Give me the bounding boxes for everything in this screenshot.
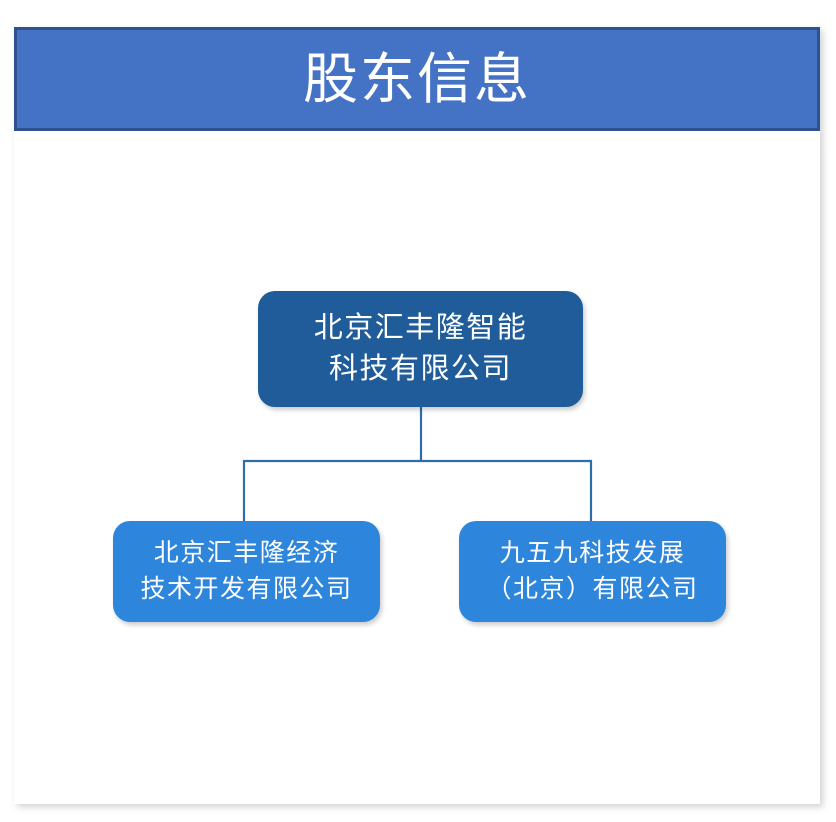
org-node-child-right-label: 九五九科技发展 （北京）有限公司 bbox=[486, 536, 698, 607]
org-node-child-left[interactable]: 北京汇丰隆经济 技术开发有限公司 bbox=[113, 521, 380, 622]
shareholder-info-card: 股东信息 北京汇丰隆智能 科技有限公司 北京汇丰隆经济 技术开发有限公司 九五九… bbox=[14, 27, 820, 804]
card-header: 股东信息 bbox=[14, 27, 820, 131]
org-node-root-label: 北京汇丰隆智能 科技有限公司 bbox=[314, 308, 528, 390]
connector-lines bbox=[14, 131, 820, 804]
org-node-child-right[interactable]: 九五九科技发展 （北京）有限公司 bbox=[459, 521, 726, 622]
page-title: 股东信息 bbox=[303, 52, 531, 107]
org-node-child-left-label: 北京汇丰隆经济 技术开发有限公司 bbox=[140, 536, 352, 607]
org-chart-canvas: 北京汇丰隆智能 科技有限公司 北京汇丰隆经济 技术开发有限公司 九五九科技发展 … bbox=[14, 131, 820, 804]
org-node-root[interactable]: 北京汇丰隆智能 科技有限公司 bbox=[258, 291, 583, 407]
